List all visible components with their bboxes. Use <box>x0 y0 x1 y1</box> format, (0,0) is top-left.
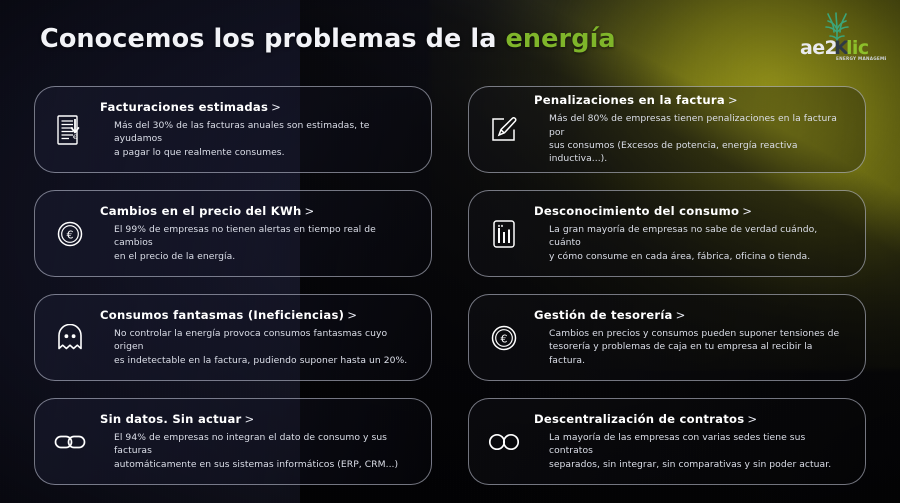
problem-card[interactable]: Consumos fantasmas (Ineficiencias)> No c… <box>34 294 432 381</box>
card-heading: Cambios en el precio del KWh> <box>100 204 417 218</box>
ghost-icon <box>50 318 90 358</box>
bar-chart-square-icon <box>484 214 524 254</box>
chevron-right-icon: > <box>747 412 757 426</box>
card-heading-text: Penalizaciones en la factura <box>534 93 725 107</box>
card-body: Descentralización de contratos> La mayor… <box>532 412 851 471</box>
euro-circle-icon: € <box>484 318 524 358</box>
card-description: Cambios en precios y consumos pueden sup… <box>534 327 851 367</box>
chevron-right-icon: > <box>347 308 357 322</box>
chevron-right-icon: > <box>676 308 686 322</box>
two-circles-icon <box>484 422 524 462</box>
invoice-down-arrow-icon: € <box>50 110 90 150</box>
svg-text:€: € <box>73 133 77 141</box>
card-description: No controlar la energía provoca consumos… <box>100 327 417 367</box>
card-description: El 94% de empresas no integran el dato d… <box>100 431 417 471</box>
card-body: Cambios en el precio del KWh> El 99% de … <box>98 204 417 263</box>
card-heading-text: Consumos fantasmas (Ineficiencias) <box>100 308 344 322</box>
card-body: Desconocimiento del consumo> La gran may… <box>532 204 851 263</box>
card-heading-text: Sin datos. Sin actuar <box>100 412 241 426</box>
card-body: Penalizaciones en la factura> Más del 80… <box>532 93 851 165</box>
card-heading: Sin datos. Sin actuar> <box>100 412 417 426</box>
chevron-right-icon: > <box>305 204 315 218</box>
chevron-right-icon: > <box>271 100 281 114</box>
card-heading-text: Facturaciones estimadas <box>100 100 268 114</box>
card-description: La mayoría de las empresas con varias se… <box>534 431 851 471</box>
page-title-plain: Conocemos los problemas de la <box>40 24 506 54</box>
card-heading: Gestión de tesorería> <box>534 308 851 322</box>
euro-circle-icon: € <box>50 214 90 254</box>
card-heading-text: Descentralización de contratos <box>534 412 744 426</box>
page-title-highlight: energía <box>506 24 616 54</box>
problem-card[interactable]: € Gestión de tesorería> Cambios en preci… <box>468 294 866 381</box>
card-body: Sin datos. Sin actuar> El 94% de empresa… <box>98 412 417 471</box>
svg-text:ae2: ae2 <box>800 37 837 59</box>
svg-text:€: € <box>67 228 74 241</box>
card-heading: Desconocimiento del consumo> <box>534 204 851 218</box>
slide-canvas: Conocemos los problemas de la energía ae… <box>0 0 900 503</box>
card-heading: Descentralización de contratos> <box>534 412 851 426</box>
card-heading-text: Gestión de tesorería <box>534 308 673 322</box>
card-description: La gran mayoría de empresas no sabe de v… <box>534 223 851 263</box>
problem-card[interactable]: € Facturaciones estimadas> Más del 30% d… <box>34 86 432 173</box>
svg-text:€: € <box>501 332 508 345</box>
chevron-right-icon: > <box>742 204 752 218</box>
problem-cards-grid: € Facturaciones estimadas> Más del 30% d… <box>0 86 900 485</box>
card-body: Consumos fantasmas (Ineficiencias)> No c… <box>98 308 417 367</box>
card-body: Facturaciones estimadas> Más del 30% de … <box>98 100 417 159</box>
chevron-right-icon: > <box>728 93 738 107</box>
problem-card[interactable]: Descentralización de contratos> La mayor… <box>468 398 866 485</box>
chevron-right-icon: > <box>244 412 254 426</box>
card-body: Gestión de tesorería> Cambios en precios… <box>532 308 851 367</box>
brand-logo[interactable]: ae2 K lic ENERGY MANAGEMENT <box>790 6 886 62</box>
card-heading-text: Cambios en el precio del KWh <box>100 204 302 218</box>
problem-card[interactable]: Desconocimiento del consumo> La gran may… <box>468 190 866 277</box>
problem-card[interactable]: Sin datos. Sin actuar> El 94% de empresa… <box>34 398 432 485</box>
card-description: El 99% de empresas no tienen alertas en … <box>100 223 417 263</box>
svg-text:ENERGY MANAGEMENT: ENERGY MANAGEMENT <box>836 56 886 61</box>
pencil-square-icon <box>484 110 524 150</box>
card-description: Más del 30% de las facturas anuales son … <box>100 119 417 159</box>
ae2klic-logo-icon: ae2 K lic ENERGY MANAGEMENT <box>790 6 886 62</box>
problem-card[interactable]: € Cambios en el precio del KWh> El 99% d… <box>34 190 432 277</box>
chain-link-icon <box>50 422 90 462</box>
card-heading-text: Desconocimiento del consumo <box>534 204 739 218</box>
card-heading: Facturaciones estimadas> <box>100 100 417 114</box>
page-title: Conocemos los problemas de la energía <box>40 24 616 54</box>
card-heading: Penalizaciones en la factura> <box>534 93 851 107</box>
card-description: Más del 80% de empresas tienen penalizac… <box>534 112 851 165</box>
problem-card[interactable]: Penalizaciones en la factura> Más del 80… <box>468 86 866 173</box>
card-heading: Consumos fantasmas (Ineficiencias)> <box>100 308 417 322</box>
